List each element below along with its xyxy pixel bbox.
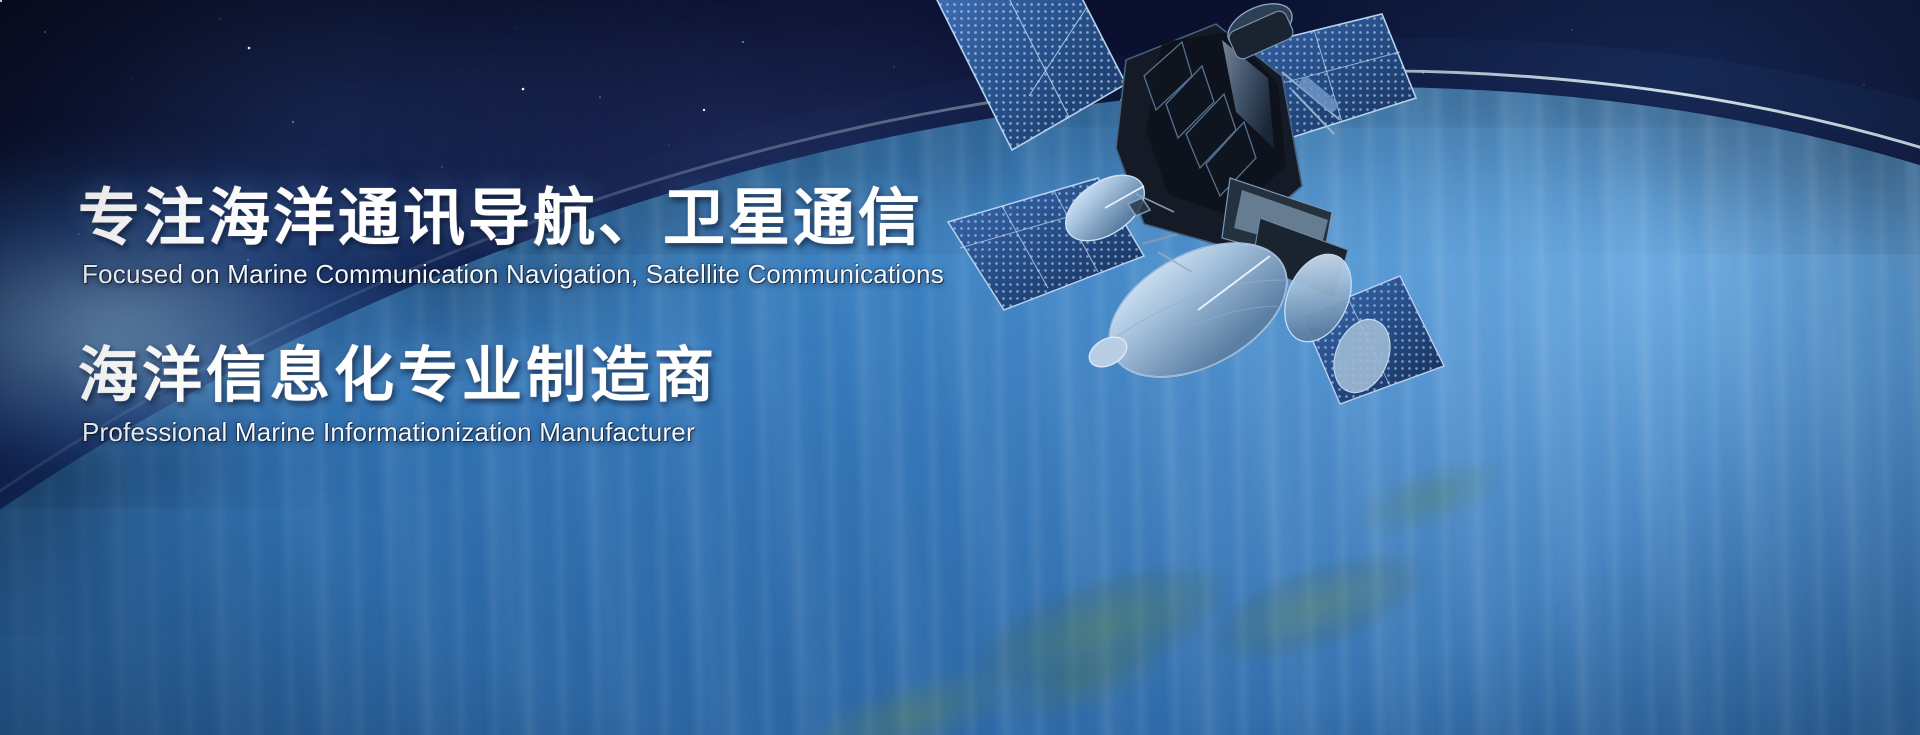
hero-block-1: 专注海洋通讯导航、卫星通信 Focused on Marine Communic… xyxy=(78,186,944,290)
subheadline-en-2: Professional Marine Informationization M… xyxy=(82,417,944,448)
hero-block-2: 海洋信息化专业制造商 Professional Marine Informati… xyxy=(78,344,944,448)
subheadline-en-1: Focused on Marine Communication Navigati… xyxy=(82,259,944,290)
hero-banner: 专注海洋通讯导航、卫星通信 Focused on Marine Communic… xyxy=(0,0,1920,735)
headline-cn-2: 海洋信息化专业制造商 xyxy=(78,344,944,409)
hero-copy: 专注海洋通讯导航、卫星通信 Focused on Marine Communic… xyxy=(78,186,944,448)
satellite-icon xyxy=(930,0,1550,440)
headline-cn-1: 专注海洋通讯导航、卫星通信 xyxy=(78,186,944,253)
